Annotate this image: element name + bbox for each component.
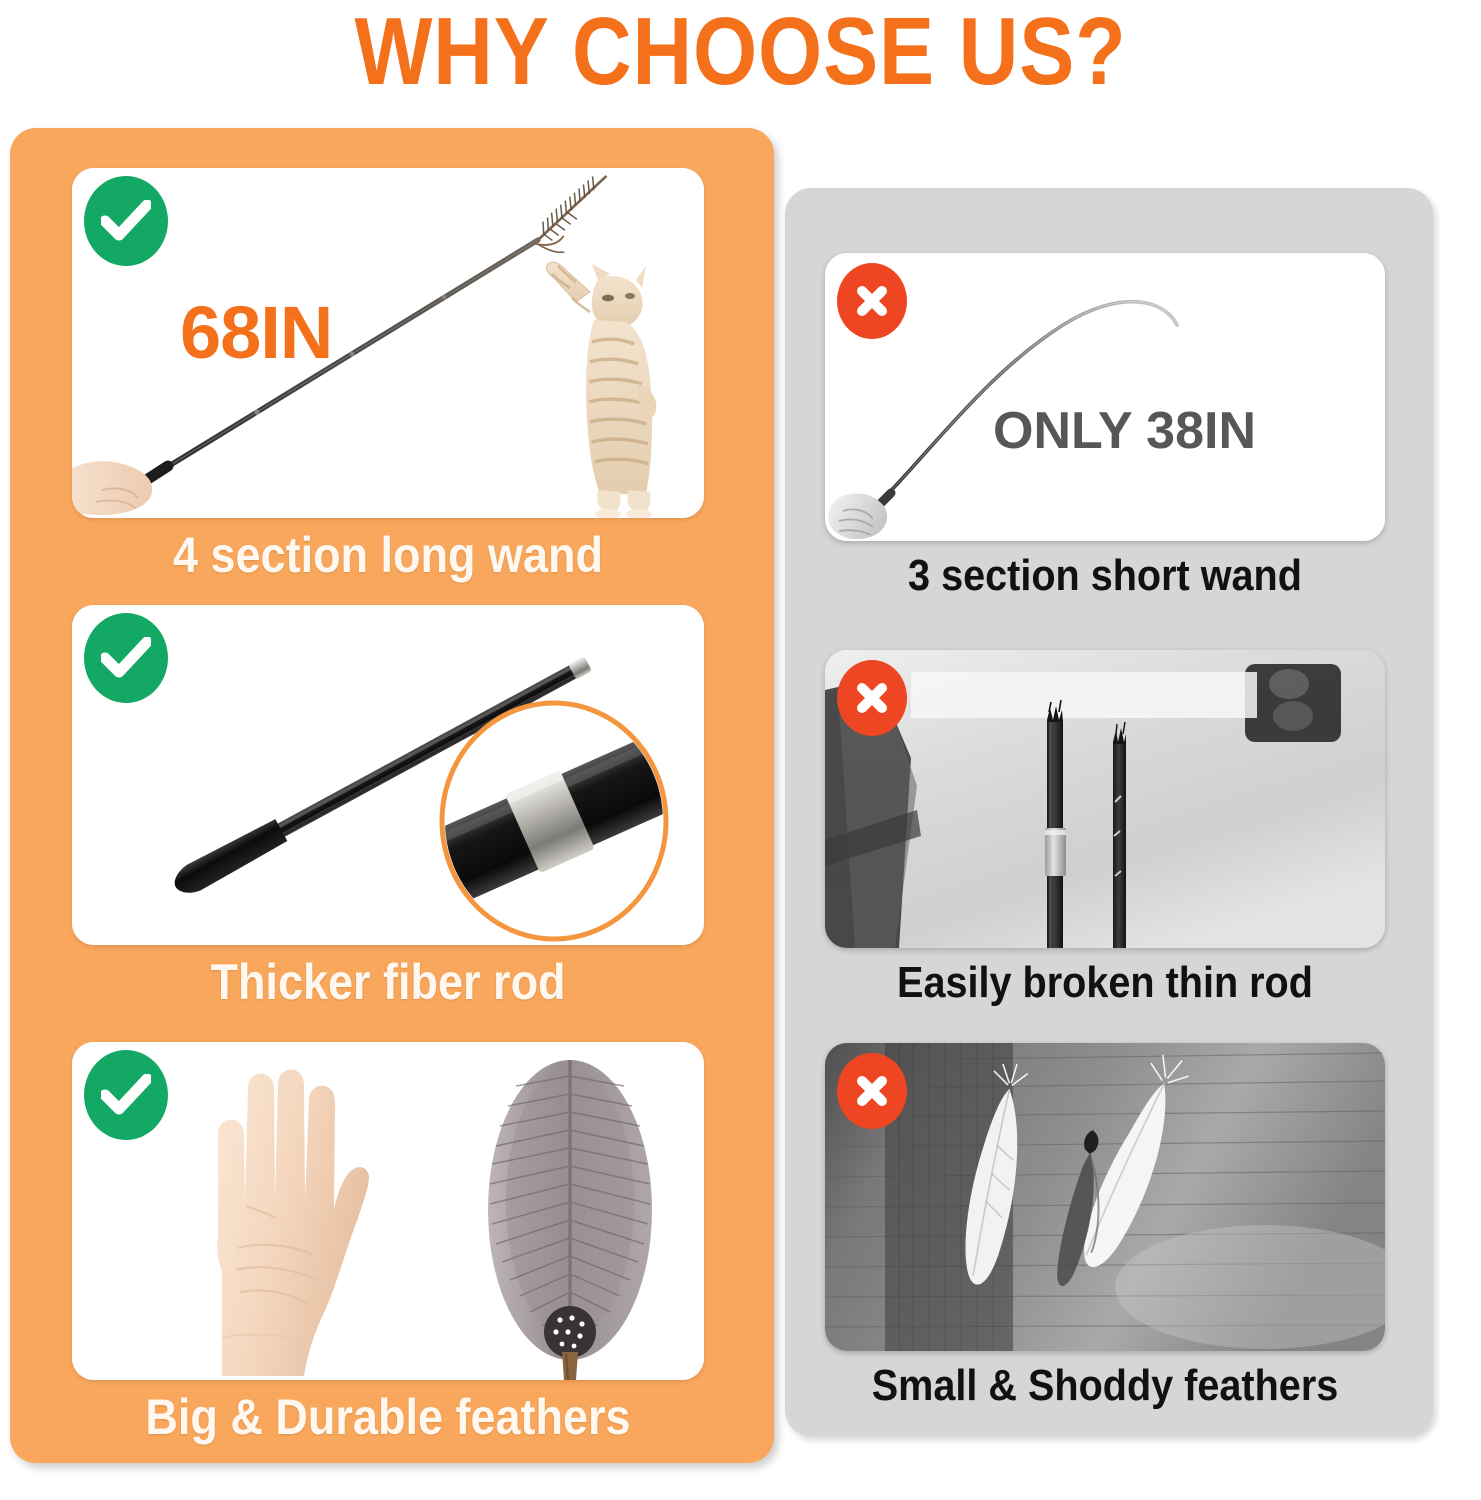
bad-row-3-caption: Small & Shoddy feathers (853, 1361, 1357, 1411)
small-feathers-photo (825, 1043, 1385, 1351)
bad-row-2: Easily broken thin rod (825, 650, 1385, 1010)
bad-row-3: Small & Shoddy feathers (825, 1043, 1385, 1403)
short-wand-art (825, 253, 1385, 541)
check-icon (84, 176, 168, 266)
cross-icon (837, 263, 907, 339)
good-row-1-caption: 4 section long wand (104, 526, 673, 584)
good-row-1-length-label: 68IN (180, 290, 332, 375)
good-row-2: Thicker fiber rod (72, 605, 704, 1025)
check-icon (84, 1050, 168, 1140)
check-icon (84, 613, 168, 703)
bad-row-2-image (825, 650, 1385, 948)
good-row-2-caption: Thicker fiber rod (104, 953, 673, 1011)
bad-row-1-image: ONLY 38IN (825, 253, 1385, 541)
good-row-3-caption: Big & Durable feathers (104, 1388, 673, 1446)
bad-row-1-caption: 3 section short wand (853, 551, 1357, 601)
bad-row-1-length-label: ONLY 38IN (993, 401, 1256, 461)
good-row-3-image (72, 1042, 704, 1380)
bad-row-2-caption: Easily broken thin rod (853, 958, 1357, 1008)
good-row-1: 68IN 4 section long wand (72, 168, 704, 588)
bad-row-1: ONLY 38IN 3 section short wand (825, 253, 1385, 613)
good-row-2-image (72, 605, 704, 945)
good-row-3: Big & Durable feathers (72, 1042, 704, 1462)
cross-icon (837, 1053, 907, 1129)
broken-thin-rod-photo (825, 650, 1385, 948)
cross-icon (837, 660, 907, 736)
infographic-root: WHY CHOOSE US? (0, 0, 1481, 1500)
good-row-1-image: 68IN (72, 168, 704, 518)
page-title: WHY CHOOSE US? (104, 2, 1378, 103)
bad-row-3-image (825, 1043, 1385, 1351)
